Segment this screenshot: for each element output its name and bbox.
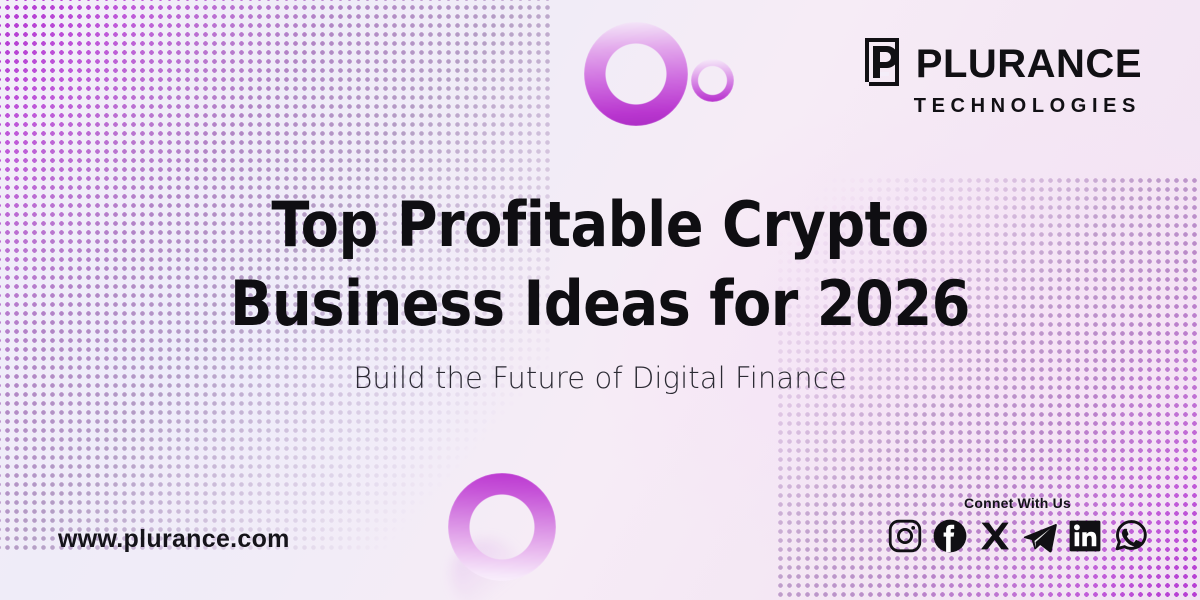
page-title-line-2: Business Ideas for 2026 [0, 264, 1200, 343]
facebook-icon[interactable] [932, 518, 968, 554]
page-subtitle: Build the Future of Digital Finance [0, 361, 1200, 395]
decorative-glow-streak [452, 540, 522, 600]
social-icon-row [887, 518, 1148, 554]
promo-banner: PLURANCE TECHNOLOGIES Top Profitable Cry… [0, 0, 1200, 600]
decorative-ring-bottom-large [448, 473, 556, 581]
brand-name: PLURANCE [916, 45, 1142, 83]
brand-logo-row: PLURANCE [861, 38, 1142, 90]
decorative-ring-top-small [691, 59, 734, 102]
social-label: Connet With Us [964, 495, 1071, 511]
headline-block: Top Profitable Crypto Business Ideas for… [0, 185, 1200, 395]
page-title-line-1: Top Profitable Crypto [271, 188, 928, 261]
brand-tagline: TECHNOLOGIES [914, 95, 1141, 118]
whatsapp-icon[interactable] [1112, 518, 1148, 554]
x-twitter-icon[interactable] [977, 518, 1013, 554]
linkedin-icon[interactable] [1067, 518, 1103, 554]
instagram-icon[interactable] [887, 518, 923, 554]
website-url[interactable]: www.plurance.com [58, 525, 290, 554]
brand-logo: PLURANCE TECHNOLOGIES [861, 38, 1142, 118]
decorative-ring-bottom-small [408, 557, 453, 600]
telegram-icon[interactable] [1022, 518, 1058, 554]
decorative-ring-top-large [584, 22, 688, 126]
p-bracket-logo-icon [861, 38, 903, 90]
social-links: Connet With Us [887, 495, 1148, 554]
page-title: Top Profitable Crypto Business Ideas for… [0, 185, 1200, 344]
